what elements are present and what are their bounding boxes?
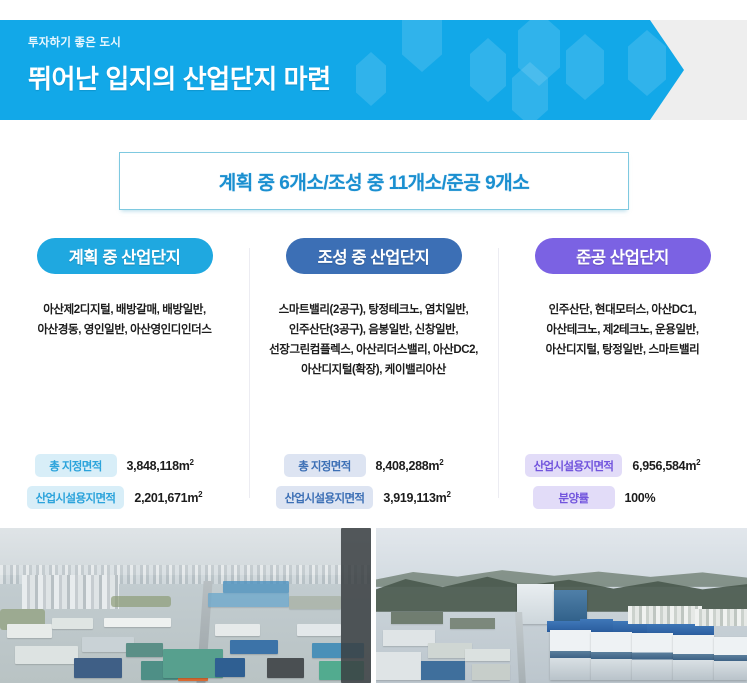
stat-label: 산업시설용지면적 <box>276 486 374 509</box>
header-band: 투자하기 좋은 도시 뛰어난 입지의 산업단지 마련 <box>0 20 684 120</box>
stat-row: 산업시설용지면적 6,956,584m2 <box>506 454 739 477</box>
summary-banner-text: 계획 중 6개소/조성 중 11개소/준공 9개소 <box>219 168 529 195</box>
column-title-completed: 준공 산업단지 <box>535 238 711 274</box>
industrial-complex-columns: 계획 중 산업단지 아산제2디지털, 배방갈매, 배방일반, 아산경동, 영인일… <box>0 238 747 518</box>
stat-row: 산업시설용지면적 2,201,671m2 <box>8 486 241 509</box>
infographic-page: 투자하기 좋은 도시 뛰어난 입지의 산업단지 마련 계획 중 6개소/조성 중… <box>0 0 747 683</box>
stat-value: 2,201,671m2 <box>134 490 222 505</box>
stat-value: 8,408,288m2 <box>376 458 464 473</box>
stat-row: 총 지정면적 3,848,118m2 <box>8 454 241 477</box>
stat-value: 3,919,113m2 <box>383 490 471 505</box>
list-item: 아산경동, 영인일반, 아산영인디인더스 <box>37 320 211 340</box>
apartment-towers <box>22 575 118 609</box>
list-item: 아산테크노, 제2테크노, 운용일반, <box>546 320 700 340</box>
stat-value: 100% <box>625 490 713 505</box>
column-list-under-construction: 스마트밸리(2공구), 탕정테크노, 염치일반, 인주산단(3공구), 음봉일반… <box>269 300 478 381</box>
column-list-completed: 인주산단, 현대모터스, 아산DC1, 아산테크노, 제2테크노, 운용일반, … <box>546 300 700 360</box>
page-title: 뛰어난 입지의 산업단지 마련 <box>28 59 331 96</box>
column-list-planned: 아산제2디지털, 배방갈매, 배방일반, 아산경동, 영인일반, 아산영인디인더… <box>37 300 211 340</box>
list-item: 인주산단(3공구), 음봉일반, 신창일반, <box>269 320 478 340</box>
column-title-planned: 계획 중 산업단지 <box>37 238 213 274</box>
sky-region <box>376 528 747 581</box>
column-completed: 준공 산업단지 인주산단, 현대모터스, 아산DC1, 아산테크노, 제2테크노… <box>498 238 747 518</box>
summary-banner: 계획 중 6개소/조성 중 11개소/준공 9개소 <box>119 152 629 210</box>
stat-value: 6,956,584m2 <box>632 458 720 473</box>
list-item: 선장그린컴플렉스, 아산리더스밸리, 아산DC2, <box>269 340 478 360</box>
header-kicker: 투자하기 좋은 도시 <box>28 34 331 50</box>
column-title-under-construction: 조성 중 산업단지 <box>286 238 462 274</box>
stat-row: 총 지정면적 8,408,288m2 <box>257 454 490 477</box>
list-item: 아산디지털, 탕정일반, 스마트밸리 <box>546 340 700 360</box>
list-item: 인주산단, 현대모터스, 아산DC1, <box>546 300 700 320</box>
stats-planned: 총 지정면적 3,848,118m2 산업시설용지면적 2,201,671m2 <box>8 454 241 518</box>
stats-under-construction: 총 지정면적 8,408,288m2 산업시설용지면적 3,919,113m2 <box>257 454 490 518</box>
stat-label: 산업시설용지면적 <box>525 454 623 477</box>
photo-display-complex-aerial <box>376 528 747 683</box>
list-item: 아산디지털(확장), 케이밸리아산 <box>269 360 478 380</box>
list-item: 스마트밸리(2공구), 탕정테크노, 염치일반, <box>269 300 478 320</box>
stat-label: 산업시설용지면적 <box>27 486 125 509</box>
header-banner: 투자하기 좋은 도시 뛰어난 입지의 산업단지 마련 <box>0 20 747 120</box>
apartment-row <box>628 606 702 625</box>
fabrication-plant <box>550 630 591 680</box>
stat-label: 분양률 <box>533 486 615 509</box>
fabrication-plant <box>714 637 747 680</box>
stat-label: 총 지정면적 <box>284 454 366 477</box>
photo-strip <box>0 528 747 683</box>
stats-completed: 산업시설용지면적 6,956,584m2 분양률 100% <box>506 454 739 518</box>
photo-industrial-city-aerial <box>0 528 371 683</box>
stat-label: 총 지정면적 <box>35 454 117 477</box>
fabrication-plant <box>591 632 632 680</box>
fabrication-plant <box>673 635 714 680</box>
stat-row: 분양률 100% <box>506 486 739 509</box>
stat-row: 산업시설용지면적 3,919,113m2 <box>257 486 490 509</box>
column-planned: 계획 중 산업단지 아산제2디지털, 배방갈매, 배방일반, 아산경동, 영인일… <box>0 238 249 518</box>
apartment-row <box>695 609 747 626</box>
column-under-construction: 조성 중 산업단지 스마트밸리(2공구), 탕정테크노, 염치일반, 인주산단(… <box>249 238 498 518</box>
list-item: 아산제2디지털, 배방갈매, 배방일반, <box>37 300 211 320</box>
fabrication-plant <box>632 633 673 680</box>
stat-value: 3,848,118m2 <box>127 458 215 473</box>
